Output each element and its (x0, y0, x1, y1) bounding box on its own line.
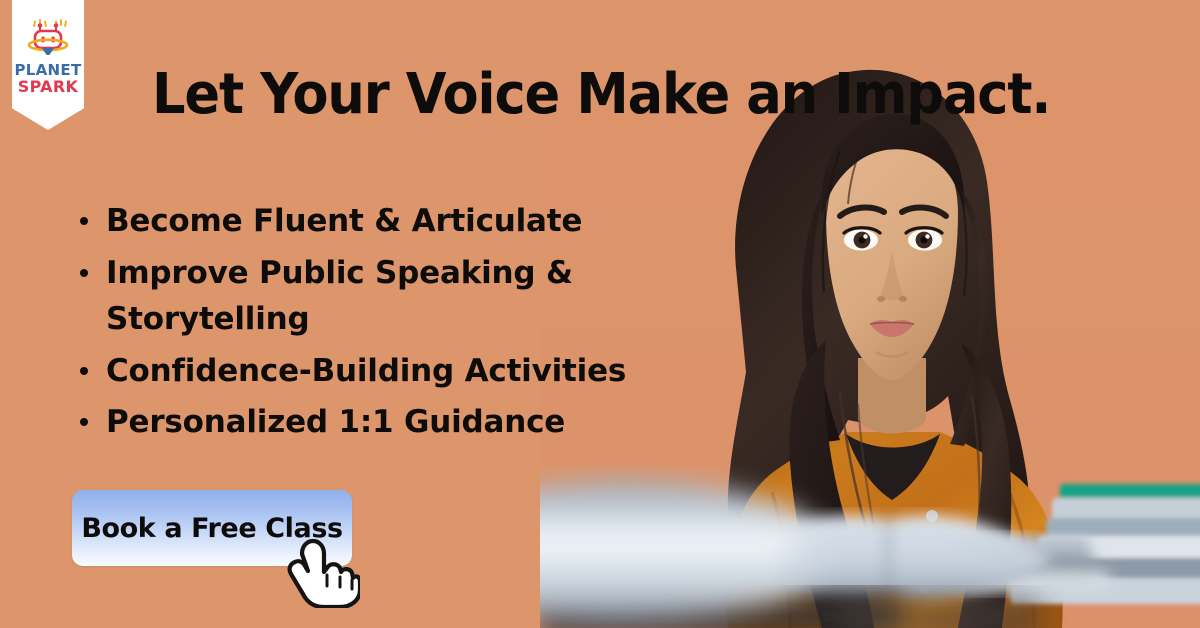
benefit-item: Confidence-Building Activities (72, 348, 772, 395)
benefit-item: Personalized 1:1 Guidance (72, 399, 772, 446)
headline: Let Your Voice Make an Impact. (152, 66, 1036, 125)
planetspark-robot-icon (25, 18, 71, 58)
book-free-class-button[interactable]: Book a Free Class (72, 490, 352, 566)
ad-banner: PLANET SPARK Let Your Voice Make an Impa… (0, 0, 1200, 628)
planetspark-logo[interactable]: PLANET SPARK (12, 0, 84, 130)
logo-text-spark: SPARK (18, 79, 78, 95)
benefits-list: Become Fluent & Articulate Improve Publi… (72, 198, 772, 451)
benefit-item: Improve Public Speaking & Storytelling (72, 250, 772, 343)
benefit-item: Become Fluent & Articulate (72, 198, 772, 245)
logo-text-planet: PLANET (15, 63, 82, 78)
book-free-class-label: Book a Free Class (81, 513, 342, 544)
